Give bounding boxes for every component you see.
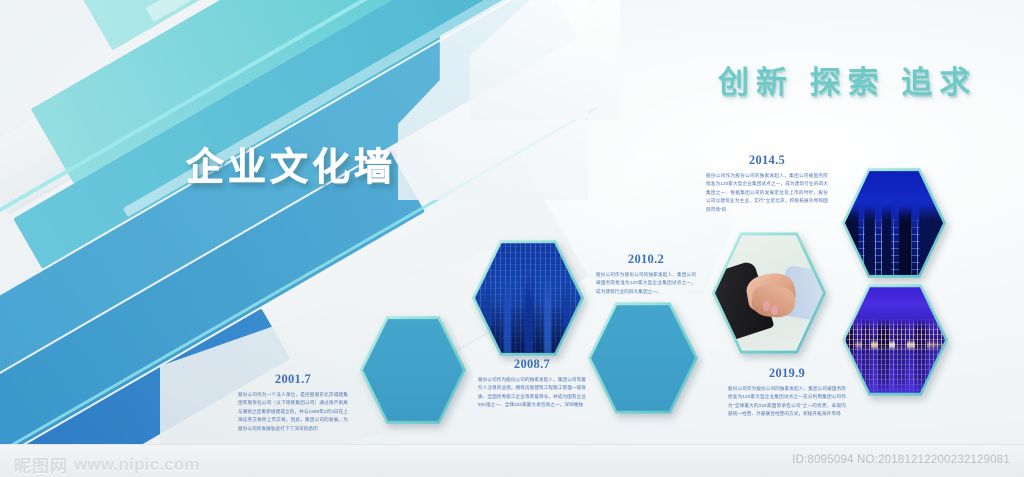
hexagon-photo [845, 169, 943, 277]
poster-canvas: 企业文化墙 创新 探索 追求 [0, 0, 1024, 444]
timeline-year: 2014.5 [706, 153, 828, 168]
timeline-body: 股份公司作为股份公司的独家发起人，集团公司有着引人注目的业绩。拥有房屋建筑工程施… [478, 376, 586, 410]
footer-bar: 昵图网 www.nipic.com ID:8095094 NO:20181212… [0, 444, 1024, 477]
screenshot-root: 企业文化墙 创新 探索 追求 [0, 0, 1024, 477]
timeline-entry-2001: 2001.7 股份公司作为一个法人单位，是控股股东北京城建集团有限责任公司（以下… [238, 372, 348, 433]
city-blue-aerial-image [475, 241, 581, 355]
page-title: 企业文化墙 [186, 136, 396, 191]
window-lights [845, 169, 943, 277]
timeline-year: 2008.7 [478, 357, 586, 372]
hexagon-solid-left[interactable] [360, 314, 466, 426]
fingernail [763, 301, 770, 311]
timeline-body: 股份公司作为股份公司的独家发起人，集团公司被国务院批准为120家大型企业集团试点… [728, 385, 846, 419]
timeline-body: 股份公司作为一个法人单位，是控股股东北京城建集团有限责任公司（以下简称集团公司）… [238, 391, 348, 433]
watermark-url: www.nipic.com [74, 455, 200, 475]
timeline-entry-2019: 2019.9 股份公司作为股份公司的独家发起人，集团公司被国务院批准为120家大… [728, 366, 846, 419]
timeline-body: 股份公司作为股份公司的独家发起人，集团公司被国务院批准为120家大型企业集团试点… [596, 271, 696, 296]
timeline-year: 2001.7 [238, 372, 348, 387]
timeline-year: 2019.9 [728, 366, 846, 381]
asset-id-tag: ID:8095094 NO:20181212200232129081 [792, 454, 1010, 466]
handshake-image [715, 233, 823, 353]
hexagon-image-handshake[interactable] [712, 230, 826, 356]
timeline-body: 股份公司作为股份公司的独家发起人，集团公司被国务院批准为120家大型企业集团试点… [706, 172, 828, 214]
waterline-glow [845, 342, 945, 348]
hexagon-solid-center[interactable] [588, 300, 698, 416]
hexagon-fill [591, 303, 695, 413]
hexagon-image-city-reflection[interactable] [842, 282, 948, 398]
timeline-year: 2010.2 [596, 252, 696, 267]
hexagon-photo [475, 241, 581, 355]
timeline-entry-2008: 2008.7 股份公司作为股份公司的独家发起人，集团公司有着引人注目的业绩。拥有… [478, 357, 586, 410]
watermark-logo-text: 昵图网 [14, 452, 68, 477]
watermark: 昵图网 www.nipic.com [14, 452, 200, 477]
slogan: 创新 探索 追求 [718, 57, 977, 102]
hexagon-photo [845, 285, 945, 395]
timeline-entry-2014: 2014.5 股份公司作为股份公司的独家发起人，集团公司被国务院批准为120家大… [706, 153, 828, 214]
hexagon-image-skyline-night[interactable] [842, 166, 946, 280]
skyline-night-image [845, 169, 943, 277]
city-reflection-image [845, 285, 945, 395]
hexagon-photo [715, 233, 823, 353]
hexagon-image-city-blue[interactable] [472, 238, 584, 358]
hexagon-fill [363, 317, 463, 423]
timeline-entry-2010: 2010.2 股份公司作为股份公司的独家发起人，集团公司被国务院批准为120家大… [596, 252, 696, 296]
